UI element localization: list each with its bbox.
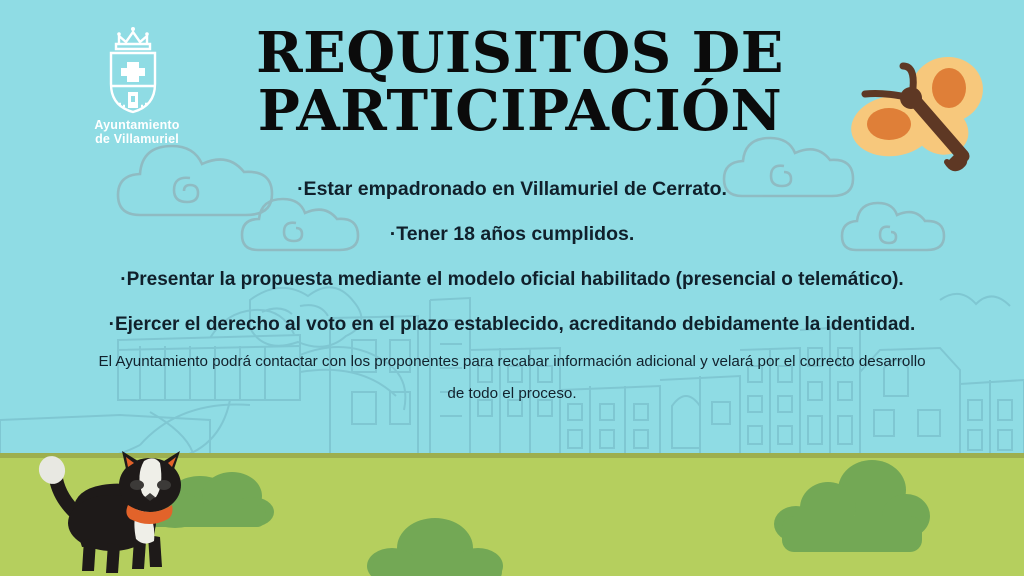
requirement-item: ·Presentar la propuesta mediante el mode… xyxy=(0,268,1024,291)
title-line-2: PARTICIPACIÓN xyxy=(180,82,860,140)
cat-tail xyxy=(35,453,78,515)
requirements-list: ·Estar empadronado en Villamuriel de Cer… xyxy=(0,178,1024,358)
requirement-item: ·Tener 18 años cumplidos. xyxy=(0,223,1024,246)
closing-note: El Ayuntamiento podrá contactar con los … xyxy=(18,346,1006,410)
requirement-item: ·Estar empadronado en Villamuriel de Cer… xyxy=(0,178,1024,201)
closing-note-line2: de todo el proceso. xyxy=(18,378,1006,410)
butterfly-icon xyxy=(845,48,1005,178)
requirement-item: ·Ejercer el derecho al voto en el plazo … xyxy=(0,313,1024,336)
closing-note-line1: El Ayuntamiento podrá contactar con los … xyxy=(18,346,1006,378)
cat-icon xyxy=(22,443,197,576)
coat-of-arms-icon xyxy=(99,24,175,116)
cat-head xyxy=(119,451,181,512)
poster-canvas: Ayuntamiento de Villamuriel REQUISITOS D… xyxy=(0,0,1024,576)
page-title: REQUISITOS DE PARTICIPACIÓN xyxy=(180,24,860,140)
title-line-1: REQUISITOS DE xyxy=(180,24,860,82)
